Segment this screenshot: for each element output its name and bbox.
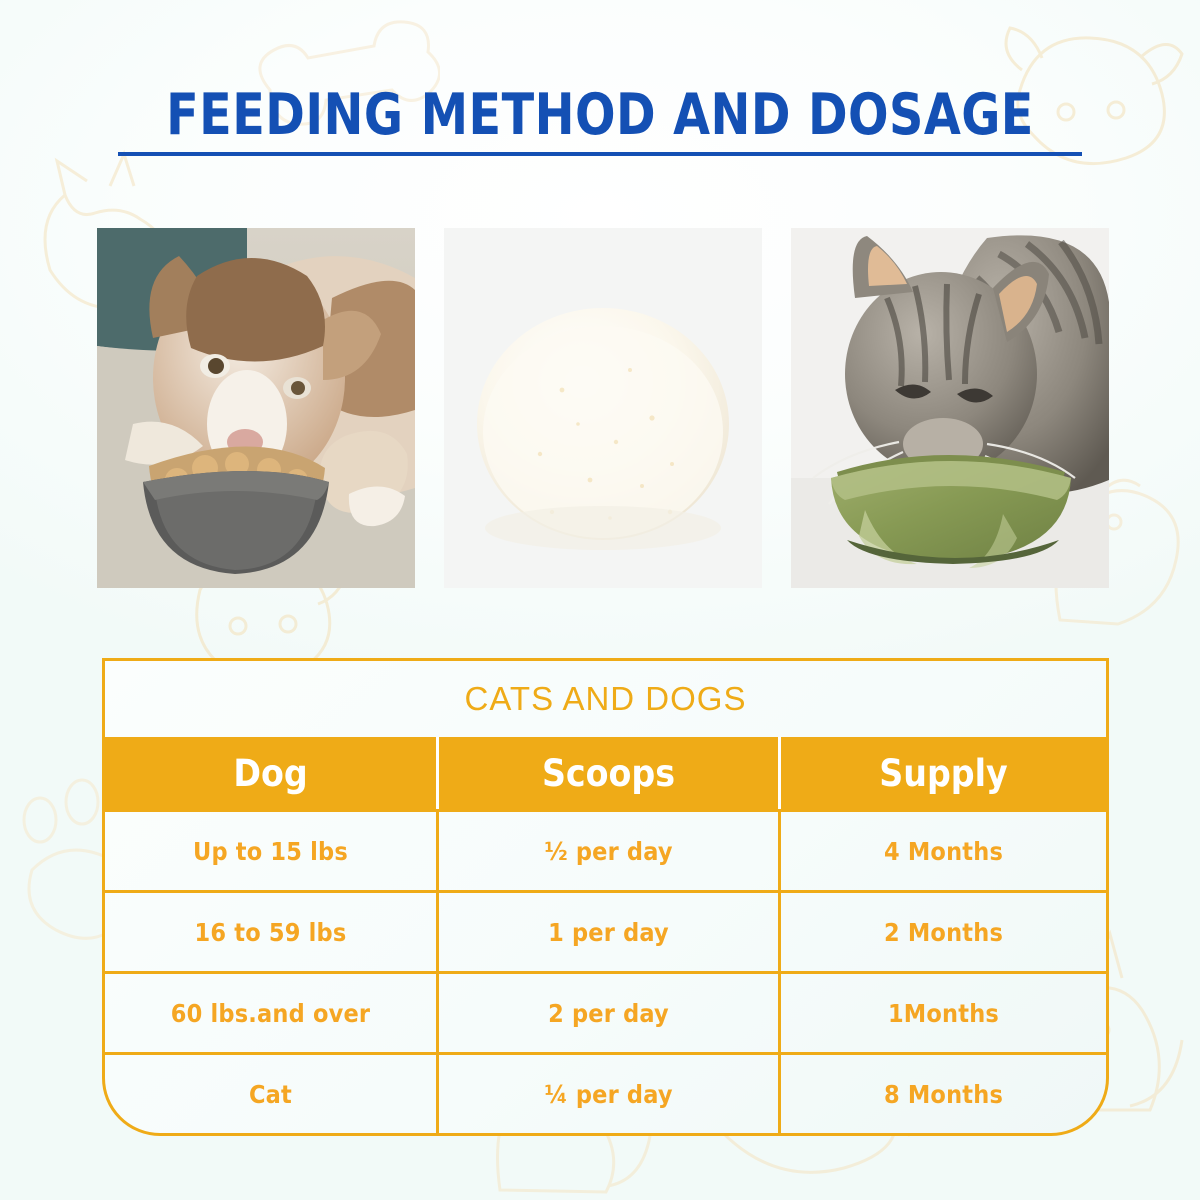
page-title: FEEDING METHOD AND DOSAGE <box>42 86 1158 144</box>
feeding-dosage-table: CATS AND DOGS Dog Scoops Supply Up to 15… <box>102 658 1109 1136</box>
dog-eating-illustration <box>97 228 415 588</box>
cell-scoops: 2 per day <box>439 974 781 1052</box>
cell-weight: Up to 15 lbs <box>105 812 439 890</box>
cell-supply: 1Months <box>781 974 1106 1052</box>
table-row: 60 lbs.and over 2 per day 1Months <box>105 971 1106 1052</box>
table-row: Up to 15 lbs ½ per day 4 Months <box>105 809 1106 890</box>
photo-strip <box>97 228 1109 588</box>
photo-powder-supplement-pile <box>444 228 762 588</box>
cell-weight: Cat <box>105 1055 439 1133</box>
title-block: FEEDING METHOD AND DOSAGE <box>0 86 1200 156</box>
cell-supply: 8 Months <box>781 1055 1106 1133</box>
cell-weight: 16 to 59 lbs <box>105 893 439 971</box>
table-header-scoops: Scoops <box>439 737 781 809</box>
title-underline-rule <box>118 152 1082 156</box>
table-header-row: Dog Scoops Supply <box>105 737 1106 809</box>
photo-dog-eating-from-bowl <box>97 228 415 588</box>
infographic-page: FEEDING METHOD AND DOSAGE <box>0 0 1200 1200</box>
cell-supply: 2 Months <box>781 893 1106 971</box>
photo-cat-eating-from-bowl <box>791 228 1109 588</box>
cell-weight: 60 lbs.and over <box>105 974 439 1052</box>
cell-scoops: ¼ per day <box>439 1055 781 1133</box>
cat-eating-illustration <box>791 228 1109 588</box>
table-row: Cat ¼ per day 8 Months <box>105 1052 1106 1133</box>
table-title-row: CATS AND DOGS <box>105 661 1106 737</box>
table-title: CATS AND DOGS <box>465 680 747 718</box>
table-row: 16 to 59 lbs 1 per day 2 Months <box>105 890 1106 971</box>
powder-pile-illustration <box>444 228 762 588</box>
cell-supply: 4 Months <box>781 812 1106 890</box>
table-header-dog: Dog <box>105 737 439 809</box>
table-header-supply: Supply <box>781 737 1106 809</box>
cell-scoops: ½ per day <box>439 812 781 890</box>
cell-scoops: 1 per day <box>439 893 781 971</box>
